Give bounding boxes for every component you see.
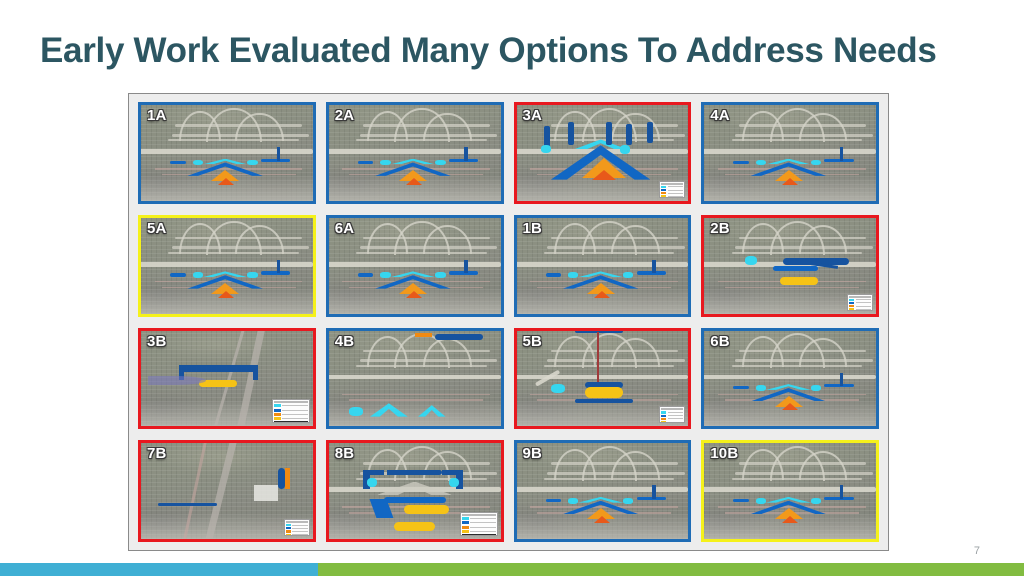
option-thumbnail-7b[interactable]: 7B [138,440,316,542]
accent-bar-right [318,563,1024,576]
option-label: 1B [523,221,543,236]
option-thumbnail-4a[interactable]: 4A [701,102,879,204]
option-thumbnail-1a[interactable]: 1A [138,102,316,204]
option-thumbnail-6a[interactable]: 6A [326,215,504,317]
map-legend [284,519,310,536]
page-number: 7 [974,545,980,557]
aerial-map-image [704,331,876,427]
map-legend [460,512,498,536]
option-thumbnail-3a[interactable]: 3A [514,102,692,204]
option-label: 3B [147,334,167,349]
accent-bar-left [0,563,318,576]
aerial-map-image [329,331,501,427]
option-thumbnail-4b[interactable]: 4B [326,328,504,430]
option-label: 5B [523,334,543,349]
option-label: 6A [335,221,355,236]
option-thumbnail-1b[interactable]: 1B [514,215,692,317]
map-legend [659,181,685,198]
option-label: 9B [523,446,543,461]
aerial-map-image [329,105,501,201]
option-thumbnail-3b[interactable]: 3B [138,328,316,430]
aerial-map-image [517,218,689,314]
option-label: 7B [147,446,167,461]
option-label: 4A [710,108,730,123]
option-label: 10B [710,446,738,461]
aerial-map-image [704,105,876,201]
map-legend [659,406,685,423]
option-label: 1A [147,108,167,123]
option-label: 2B [710,221,730,236]
option-thumbnail-10b[interactable]: 10B [701,440,879,542]
option-thumbnail-9b[interactable]: 9B [514,440,692,542]
option-thumbnail-2a[interactable]: 2A [326,102,504,204]
page-title: Early Work Evaluated Many Options To Add… [40,32,1000,71]
option-label: 4B [335,334,355,349]
option-label: 2A [335,108,355,123]
options-grid: 1A 2A [138,102,879,542]
aerial-map-image [329,218,501,314]
option-label: 3A [523,108,543,123]
option-thumbnail-5a[interactable]: 5A [138,215,316,317]
option-label: 5A [147,221,167,236]
option-label: 6B [710,334,730,349]
options-grid-frame: 1A 2A [128,93,889,551]
map-legend [272,399,310,423]
option-thumbnail-8b[interactable]: 8B [326,440,504,542]
option-thumbnail-6b[interactable]: 6B [701,328,879,430]
map-legend [847,294,873,311]
option-thumbnail-2b[interactable]: 2B [701,215,879,317]
option-thumbnail-5b[interactable]: 5B [514,328,692,430]
option-label: 8B [335,446,355,461]
aerial-map-image [517,443,689,539]
